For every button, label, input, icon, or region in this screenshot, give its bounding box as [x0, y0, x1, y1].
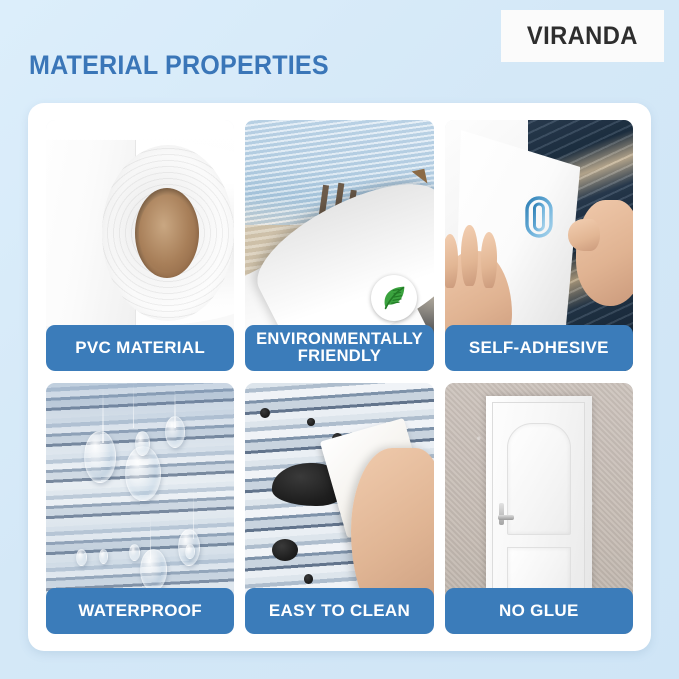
feature-tile-pvc-material[interactable]: PVC MATERIAL [46, 120, 234, 371]
right-hand [576, 200, 633, 305]
feature-label-no-glue: NO GLUE [445, 588, 633, 634]
brand-name: VIRANDA [527, 22, 638, 51]
features-grid: PVC MATERIAL [46, 120, 633, 634]
feature-tile-environmentally-friendly[interactable]: ENVIRONMENTALLY FRIENDLY [245, 120, 433, 371]
feature-label-waterproof: WATERPROOF [46, 588, 234, 634]
door-slab [492, 402, 585, 604]
paperclip-icon [524, 195, 554, 239]
leaf-icon [379, 283, 409, 313]
features-card: PVC MATERIAL [28, 103, 651, 651]
eco-badge [371, 275, 417, 321]
door-frame [486, 396, 591, 607]
page-header: MATERIAL PROPERTIES VIRANDA [0, 0, 679, 103]
door-handle-icon [498, 515, 514, 520]
feature-tile-no-glue[interactable]: NO GLUE [445, 383, 633, 634]
feature-label-pvc-material: PVC MATERIAL [46, 325, 234, 371]
feature-tile-waterproof[interactable]: WATERPROOF [46, 383, 234, 634]
feature-tile-easy-to-clean[interactable]: EASY TO CLEAN [245, 383, 433, 634]
feature-label-self-adhesive: SELF-ADHESIVE [445, 325, 633, 371]
feature-label-easy-to-clean: EASY TO CLEAN [245, 588, 433, 634]
feature-label-environmentally-friendly: ENVIRONMENTALLY FRIENDLY [245, 325, 433, 371]
page-title: MATERIAL PROPERTIES [29, 50, 329, 81]
paperclip-icon-wrap [524, 195, 554, 244]
brand-logo-box: VIRANDA [501, 10, 664, 62]
feature-tile-self-adhesive[interactable]: SELF-ADHESIVE [445, 120, 633, 371]
